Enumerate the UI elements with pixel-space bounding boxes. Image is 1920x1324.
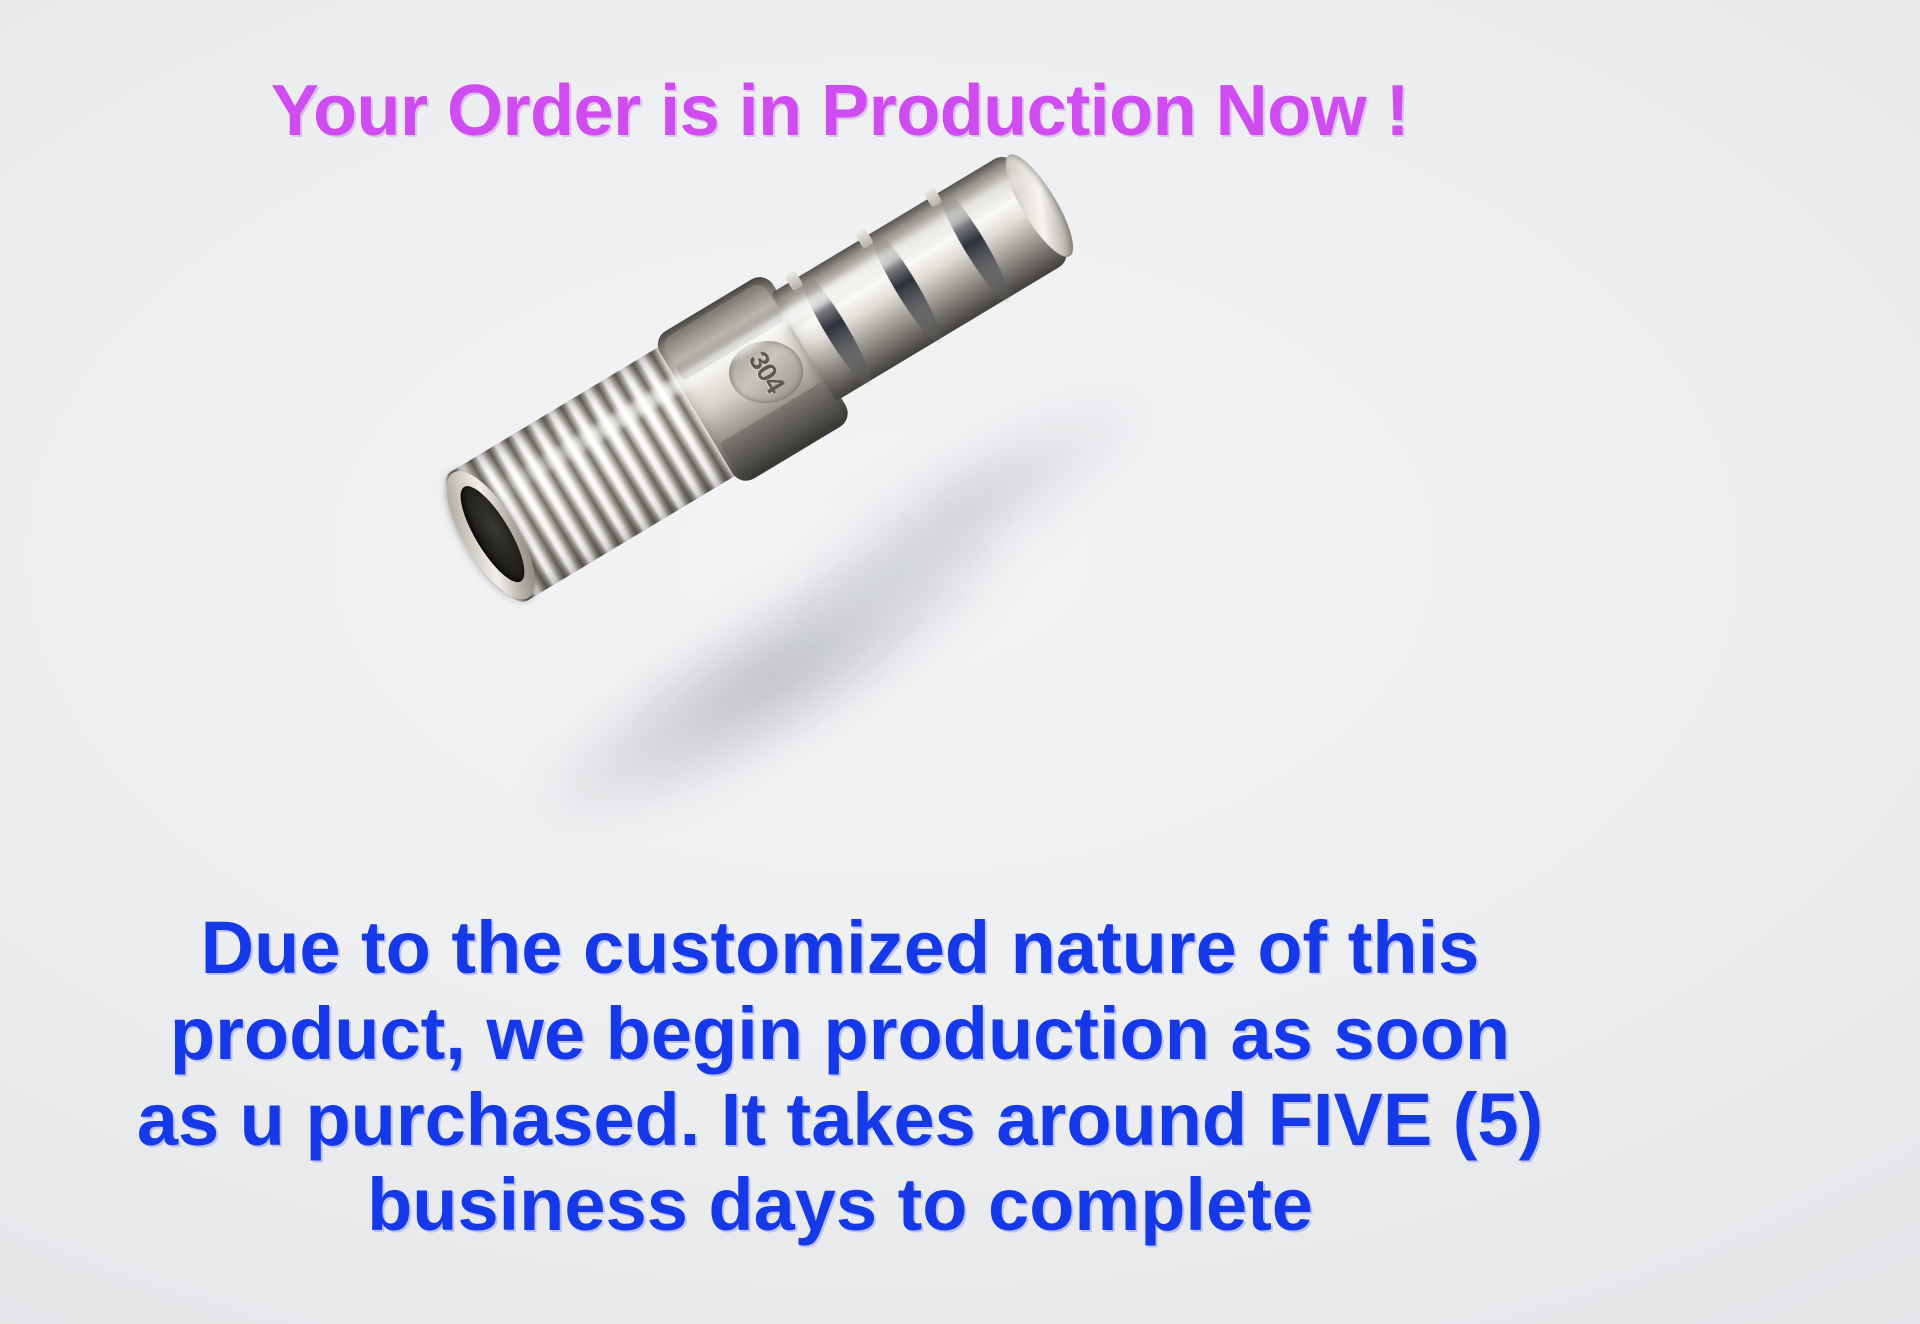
notice-line: business days to complete <box>0 1162 1680 1248</box>
page-title: Your Order is in Production Now ! <box>0 74 1680 150</box>
notice-line: Due to the customized nature of this <box>0 905 1680 991</box>
promo-banner: Your Order is in Production Now ! 304 <box>0 0 1920 1324</box>
notice-line: product, we begin production as soon <box>0 991 1680 1077</box>
material-grade-label: 304 <box>742 346 790 398</box>
notice-line: as u purchased. It takes around FIVE (5) <box>0 1077 1680 1163</box>
production-notice: Due to the customized nature of this pro… <box>0 905 1680 1248</box>
product-photo: 304 <box>455 300 1155 730</box>
